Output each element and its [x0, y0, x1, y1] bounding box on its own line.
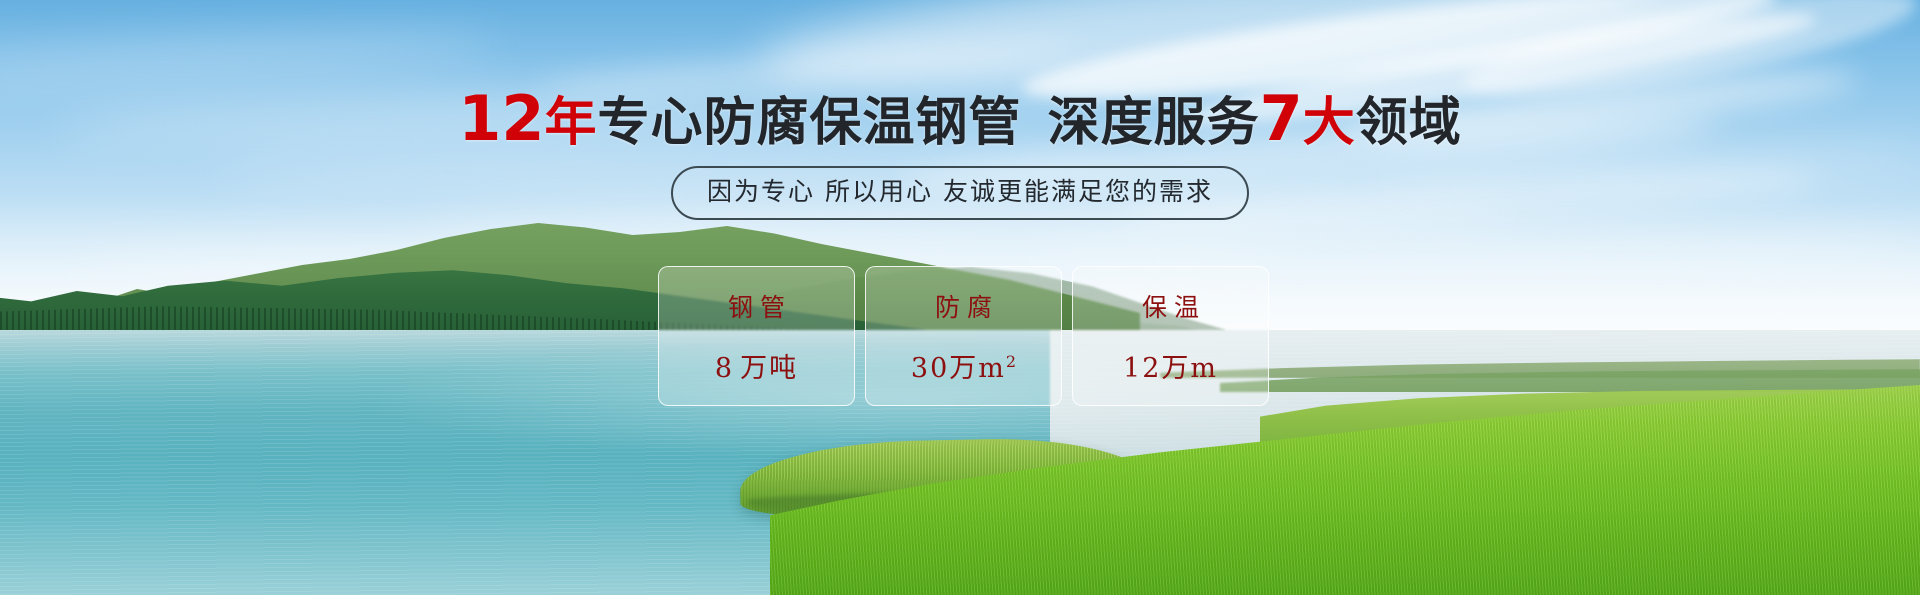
stat-value-number: 8 — [715, 353, 734, 384]
banner-subtitle-pill: 因为专心 所以用心 友诚更能满足您的需求 — [671, 166, 1249, 220]
hero-banner: 12年专心防腐保温钢管深度服务7大领域 因为专心 所以用心 友诚更能满足您的需求… — [0, 0, 1920, 595]
stat-value: 12万m — [1123, 346, 1218, 385]
headline-main-phrase: 专心防腐保温钢管 — [598, 93, 1022, 153]
headline-fields-word: 领域 — [1356, 93, 1462, 153]
stat-value-unit: 万吨 — [740, 353, 798, 384]
stat-label: 防腐 — [928, 288, 999, 324]
stat-value-number: 12 — [1123, 353, 1161, 384]
headline-years-unit: 年 — [545, 93, 598, 153]
stat-card-group: 钢管 8万吨 防腐 30万m2 保温 12万m — [658, 266, 1269, 406]
headline-years-number: 12 — [458, 82, 544, 155]
stat-value-unit: 万m — [1161, 353, 1218, 384]
stat-value-unit: 万m — [949, 353, 1006, 384]
stat-value: 8万吨 — [715, 346, 798, 385]
headline-service-phrase: 深度服务 — [1048, 93, 1260, 153]
stat-label: 钢管 — [721, 288, 792, 324]
stat-card-anticorrosion[interactable]: 防腐 30万m2 — [865, 266, 1062, 406]
stat-card-steel-pipe[interactable]: 钢管 8万吨 — [658, 266, 855, 406]
headline-fields-unit: 大 — [1303, 93, 1356, 153]
headline-fields-number: 7 — [1260, 82, 1303, 155]
stat-value-number: 30 — [911, 353, 949, 384]
banner-content: 12年专心防腐保温钢管深度服务7大领域 因为专心 所以用心 友诚更能满足您的需求… — [0, 0, 1920, 595]
stat-card-insulation[interactable]: 保温 12万m — [1072, 266, 1269, 406]
banner-headline: 12年专心防腐保温钢管深度服务7大领域 — [0, 88, 1920, 154]
stat-value: 30万m2 — [911, 346, 1016, 385]
stat-label: 保温 — [1135, 288, 1206, 324]
banner-subtitle-wrap: 因为专心 所以用心 友诚更能满足您的需求 — [0, 166, 1920, 220]
stat-value-superscript: 2 — [1006, 352, 1016, 371]
